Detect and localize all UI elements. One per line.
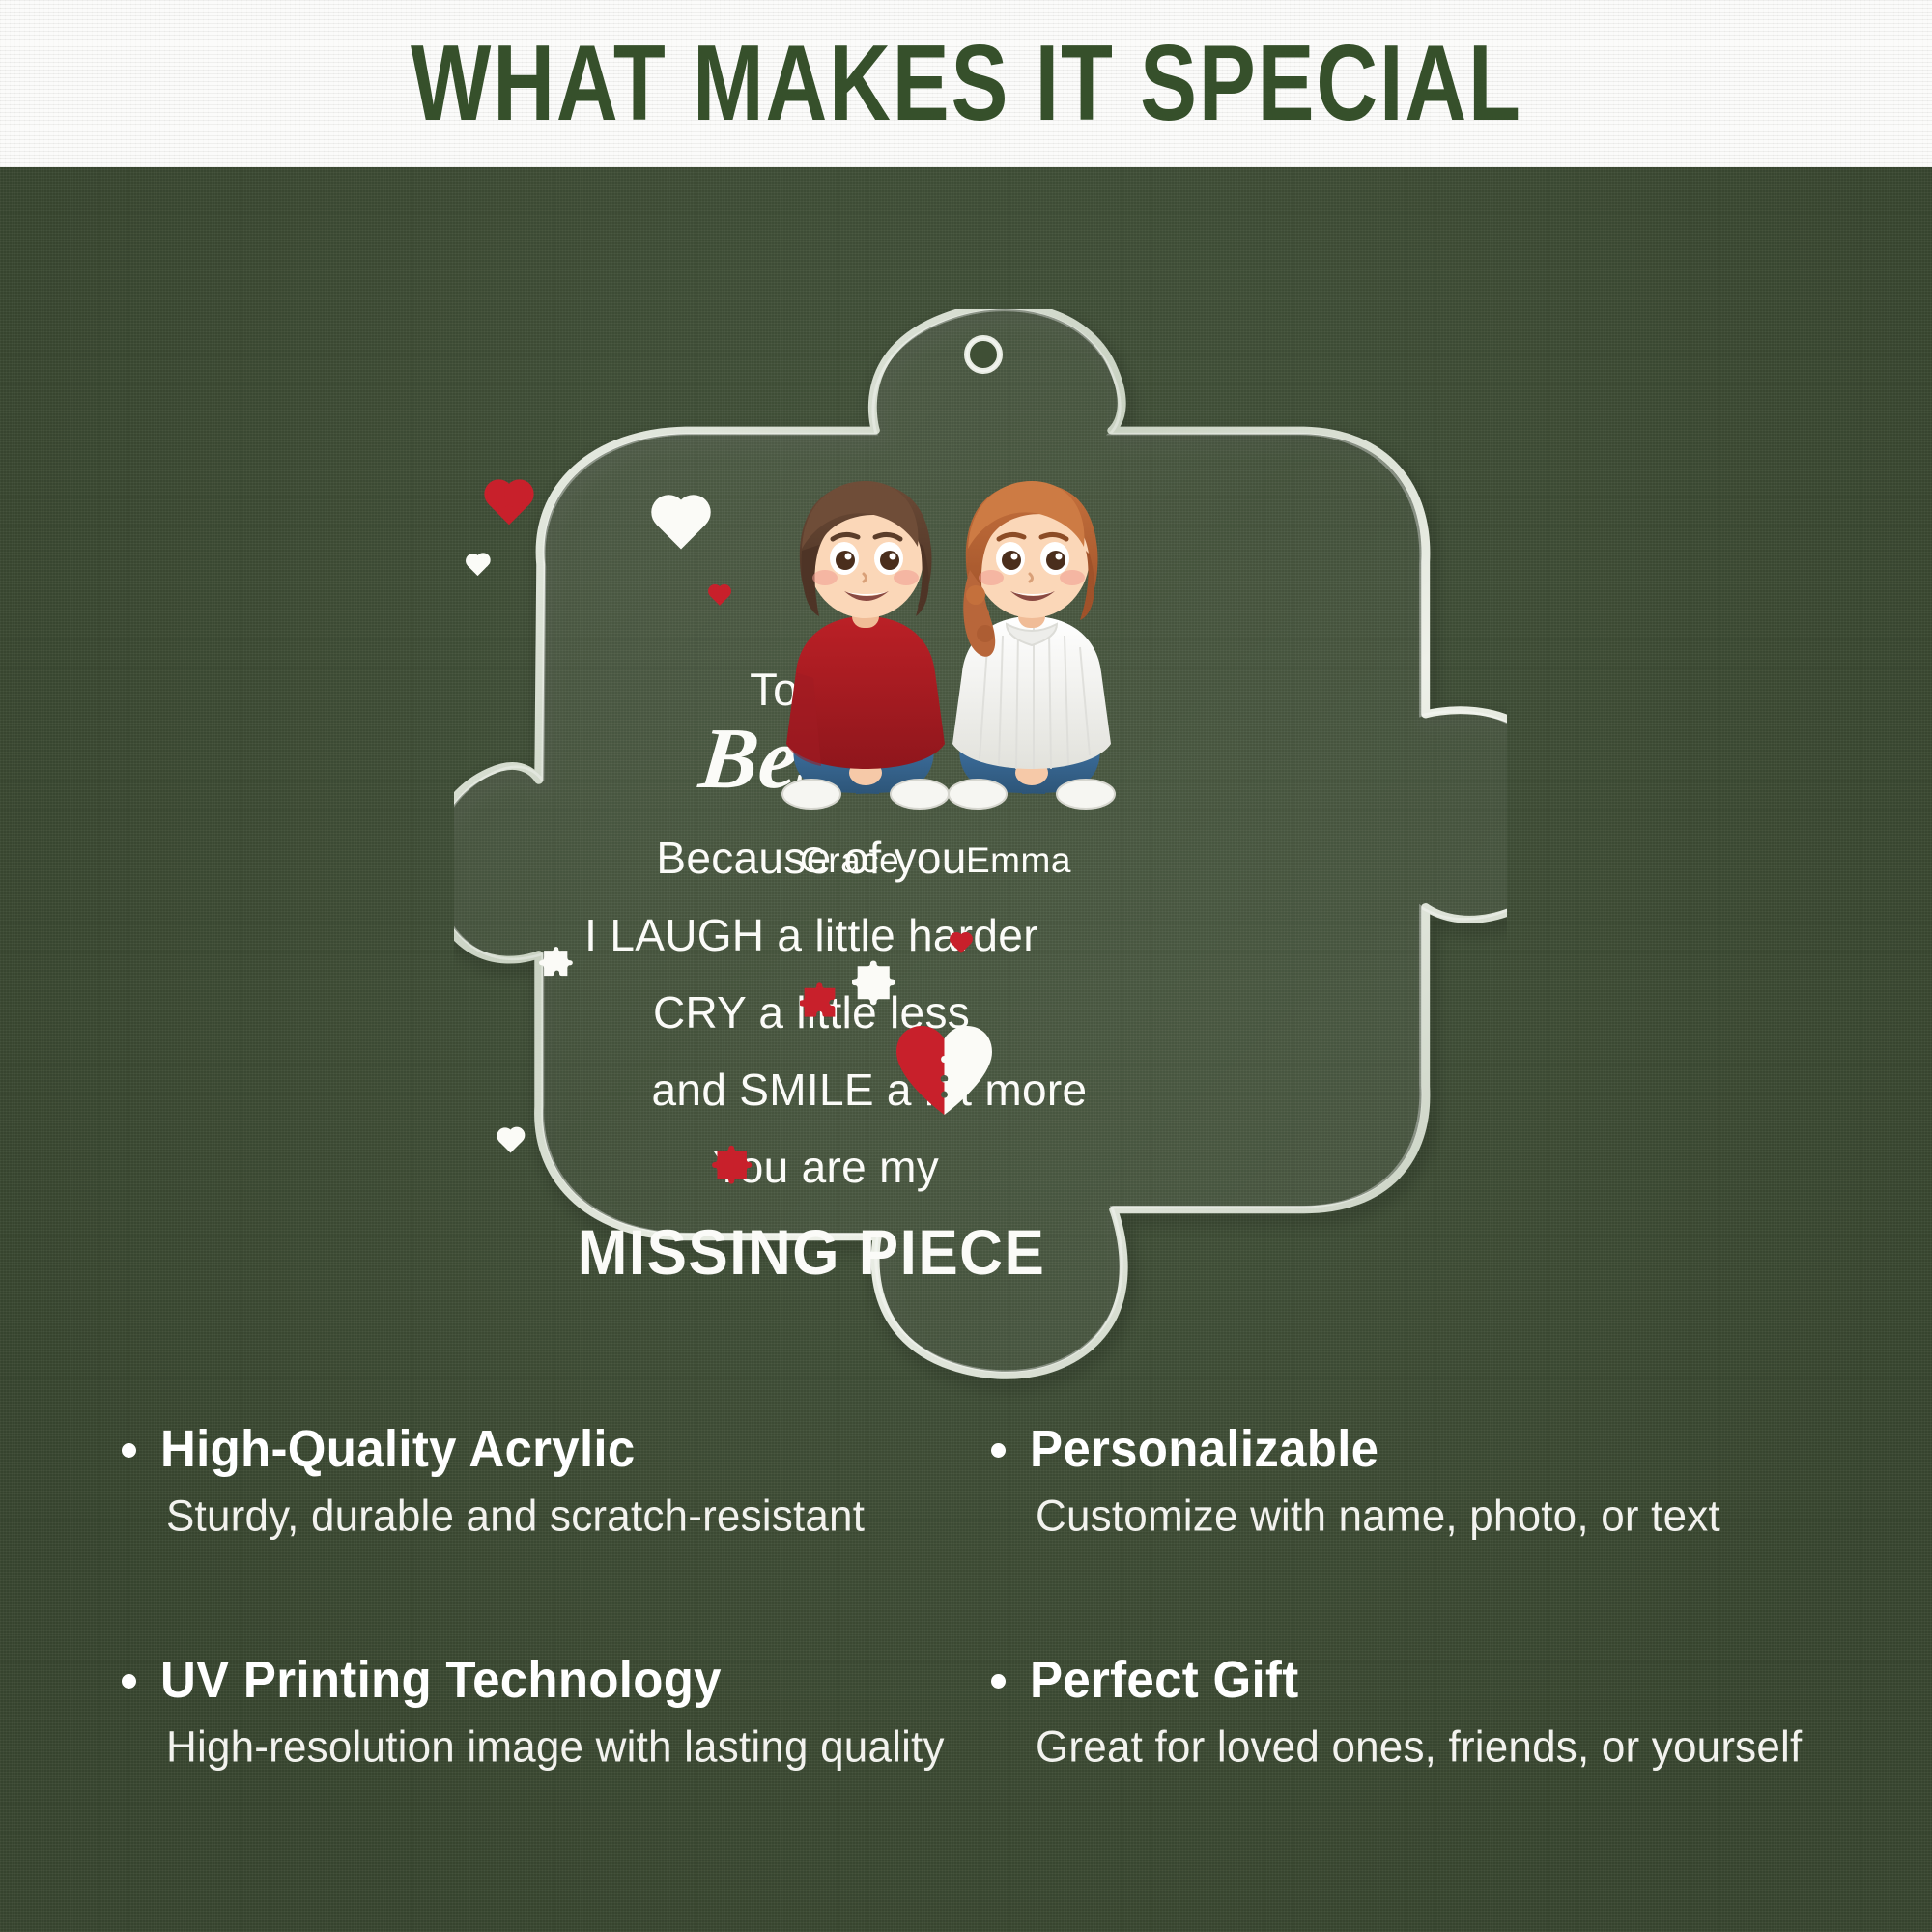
feature-subtitle: Great for loved ones, friends, or yourse… (1036, 1722, 1826, 1773)
feature-subtitle: Sturdy, durable and scratch-resistant (166, 1492, 956, 1542)
feature-uv-printing-technology: UV Printing Technology High-resolution i… (116, 1651, 956, 1855)
bullet-icon (991, 1674, 1006, 1689)
feature-title: High-Quality Acrylic (160, 1419, 956, 1479)
feature-perfect-gift: Perfect Gift Great for loved ones, frien… (985, 1651, 1826, 1855)
bullet-icon (122, 1674, 136, 1689)
bullet-icon (991, 1443, 1006, 1458)
feature-title: UV Printing Technology (160, 1650, 956, 1710)
features-grid: High-Quality Acrylic Sturdy, durable and… (0, 1420, 1932, 1855)
plaque-shape-svg (454, 309, 1507, 1420)
bullet-icon (122, 1443, 136, 1458)
page-title: WHAT MAKES IT SPECIAL (411, 22, 1522, 146)
acrylic-puzzle-plaque (454, 309, 1507, 1420)
feature-personalizable: Personalizable Customize with name, phot… (985, 1420, 1826, 1624)
puzzle-outline (454, 309, 1507, 1376)
feature-high-quality-acrylic: High-Quality Acrylic Sturdy, durable and… (116, 1420, 956, 1624)
feature-subtitle: High-resolution image with lasting quali… (166, 1722, 956, 1773)
feature-title: Personalizable (1030, 1419, 1826, 1479)
feature-subtitle: Customize with name, photo, or text (1036, 1492, 1826, 1542)
header-banner: WHAT MAKES IT SPECIAL (0, 0, 1932, 167)
feature-title: Perfect Gift (1030, 1650, 1826, 1710)
